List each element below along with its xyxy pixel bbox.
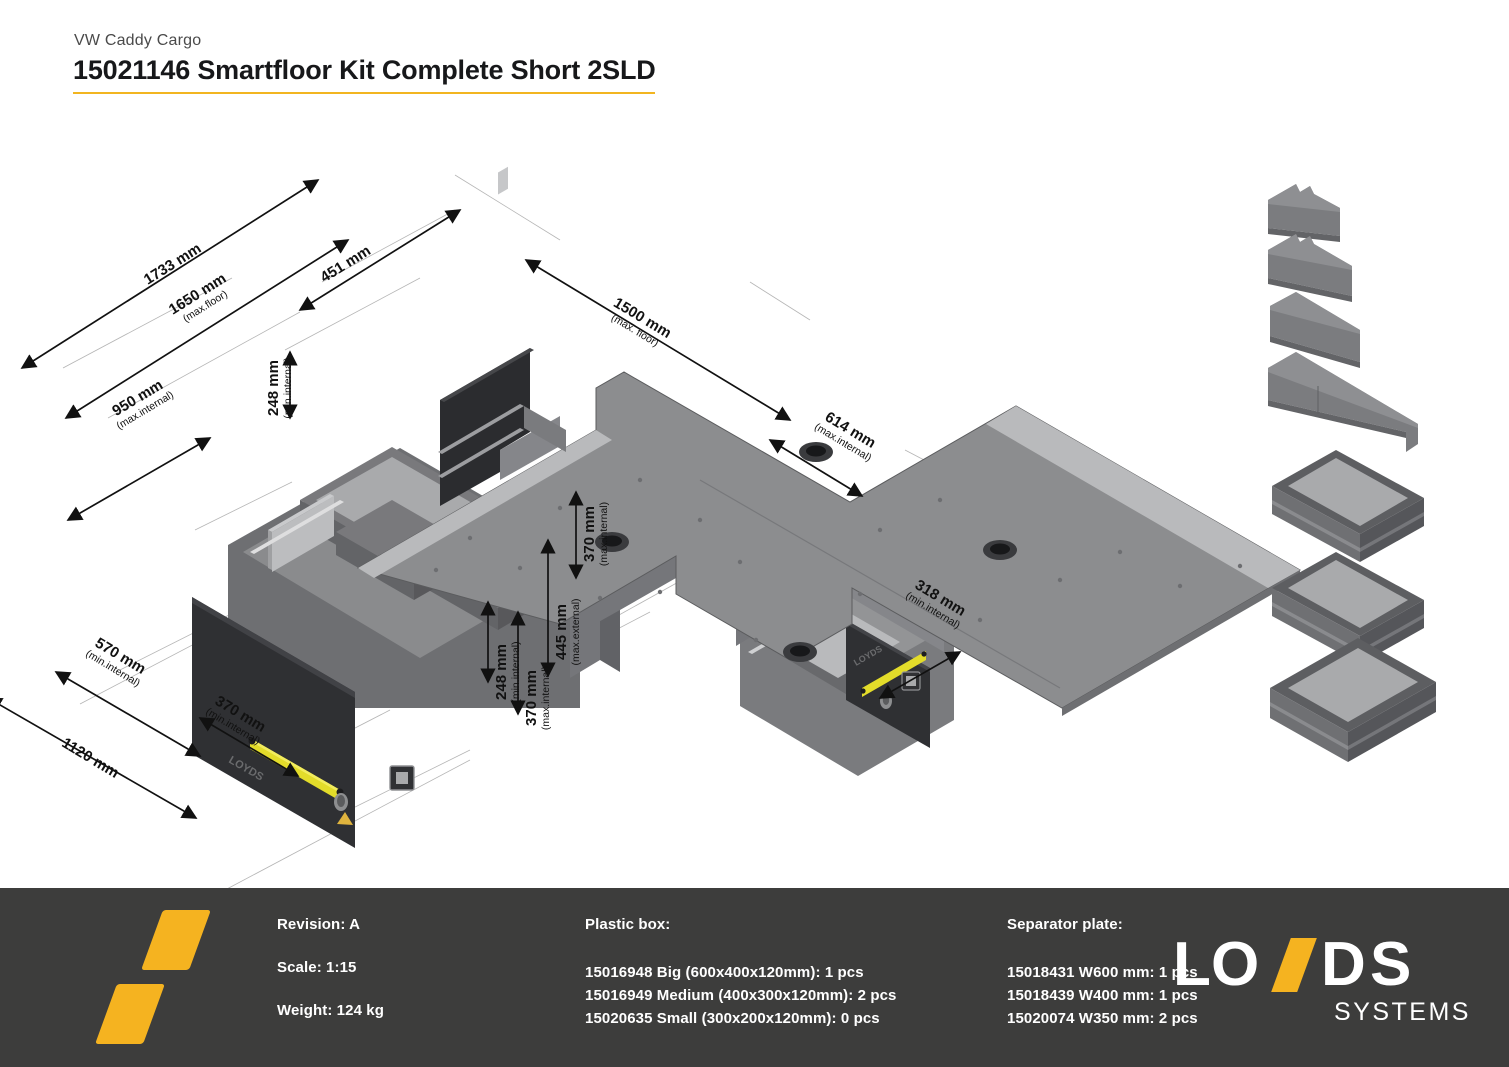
logo-letter-s: S [1370, 936, 1411, 994]
dim-445: 445 mm (max.external) [553, 598, 582, 665]
left-drawer-lock[interactable] [334, 793, 348, 811]
separator-plate-4 [1268, 352, 1418, 452]
dim-248-bottom: 248 mm (min.internal) [493, 641, 522, 702]
logo-accent-slash-icon [1271, 938, 1317, 992]
plastic-box-item-big: 15016948 Big (600x400x120mm): 1 pcs [585, 961, 897, 984]
svg-text:248 mm: 248 mm [265, 360, 282, 416]
title-underline-rule [73, 92, 655, 94]
dim-370-maxint-lower: 370 mm (max.internal) [523, 666, 552, 730]
footer-column-plastic-box: Plastic box: 15016948 Big (600x400x120mm… [585, 916, 897, 1030]
plastic-box-list: 15016948 Big (600x400x120mm): 1 pcs 1501… [585, 961, 897, 1030]
dim-950: 950 mm (max.internal) [106, 374, 176, 432]
dim-1120: 1120 mm [59, 735, 122, 782]
plastic-box-1 [1272, 450, 1424, 562]
separator-plate-list: 15018431 W600 mm: 1 pcs 15018439 W400 mm… [1007, 961, 1198, 1030]
plastic-box-heading: Plastic box: [585, 916, 897, 933]
separator-plate-heading: Separator plate: [1007, 916, 1198, 933]
weight-label: Weight: 124 kg [277, 1002, 384, 1019]
plastic-box-item-medium: 15016949 Medium (400x300x120mm): 2 pcs [585, 984, 897, 1007]
left-drawer-label-plate [390, 766, 414, 790]
dim-370-maxint-upper: 370 mm (max.internal) [581, 502, 610, 566]
svg-text:(max.external): (max.external) [570, 598, 582, 665]
logo-letter-l: L [1173, 936, 1211, 994]
footer-column-revision: Revision: A Scale: 1:15 Weight: 124 kg [277, 916, 384, 1019]
loyds-systems-logo: L O D S SYSTEMS [1173, 936, 1473, 1032]
svg-text:370 mm: 370 mm [523, 670, 540, 726]
footer-column-separator-plate: Separator plate: 15018431 W600 mm: 1 pcs… [1007, 916, 1198, 1030]
scale-label: Scale: 1:15 [277, 959, 384, 976]
bulkhead-partition [438, 167, 566, 506]
dim-248-top: 248 mm (min.internal) [265, 357, 294, 418]
page-title: 15021146 Smartfloor Kit Complete Short 2… [73, 55, 656, 86]
brand-slash-mark-bottom [95, 984, 165, 1044]
svg-text:1733 mm: 1733 mm [141, 240, 204, 288]
svg-text:1120 mm: 1120 mm [59, 735, 122, 782]
page-header: VW Caddy Cargo 15021146 Smartfloor Kit C… [0, 0, 1509, 100]
technical-drawing-canvas: LOYDS LOYDS [0, 100, 1509, 888]
plastic-box-3 [1270, 638, 1436, 762]
svg-text:248 mm: 248 mm [493, 644, 510, 700]
svg-text:445 mm: 445 mm [553, 604, 570, 660]
logo-wordmark: L O D S [1173, 936, 1473, 994]
brand-slash-mark-top [141, 910, 211, 970]
dim-1650: 1650 mm (max.floor) [166, 270, 236, 329]
logo-subtitle: SYSTEMS [1334, 998, 1471, 1027]
plastic-box-item-small: 15020635 Small (300x200x120mm): 0 pcs [585, 1007, 897, 1030]
svg-text:(min.internal): (min.internal) [510, 641, 522, 702]
dim-570: 570 mm (min.internal) [83, 633, 150, 689]
separator-plate-item-w350: 15020074 W350 mm: 2 pcs [1007, 1007, 1198, 1030]
svg-text:451 mm: 451 mm [317, 242, 373, 286]
dim-1733: 1733 mm [141, 240, 204, 288]
parts-column [1268, 184, 1436, 762]
separator-plate-2 [1268, 234, 1352, 302]
svg-text:(min.internal): (min.internal) [282, 357, 294, 418]
logo-letter-d: D [1321, 936, 1366, 994]
logo-letter-o: O [1211, 936, 1259, 994]
separator-plate-item-w600: 15018431 W600 mm: 1 pcs [1007, 961, 1198, 984]
page-footer: Revision: A Scale: 1:15 Weight: 124 kg P… [0, 888, 1509, 1067]
vehicle-subtitle: VW Caddy Cargo [74, 32, 201, 50]
separator-plate-1 [1268, 184, 1340, 242]
svg-text:(max.internal): (max.internal) [598, 502, 610, 566]
dim-451: 451 mm [317, 242, 373, 286]
isometric-assembly-svg: LOYDS LOYDS [0, 100, 1509, 888]
svg-text:370 mm: 370 mm [581, 506, 598, 562]
separator-plate-item-w400: 15018439 W400 mm: 1 pcs [1007, 984, 1198, 1007]
separator-plate-3 [1270, 292, 1360, 368]
revision-label: Revision: A [277, 916, 384, 933]
svg-text:(max.internal): (max.internal) [540, 666, 552, 730]
